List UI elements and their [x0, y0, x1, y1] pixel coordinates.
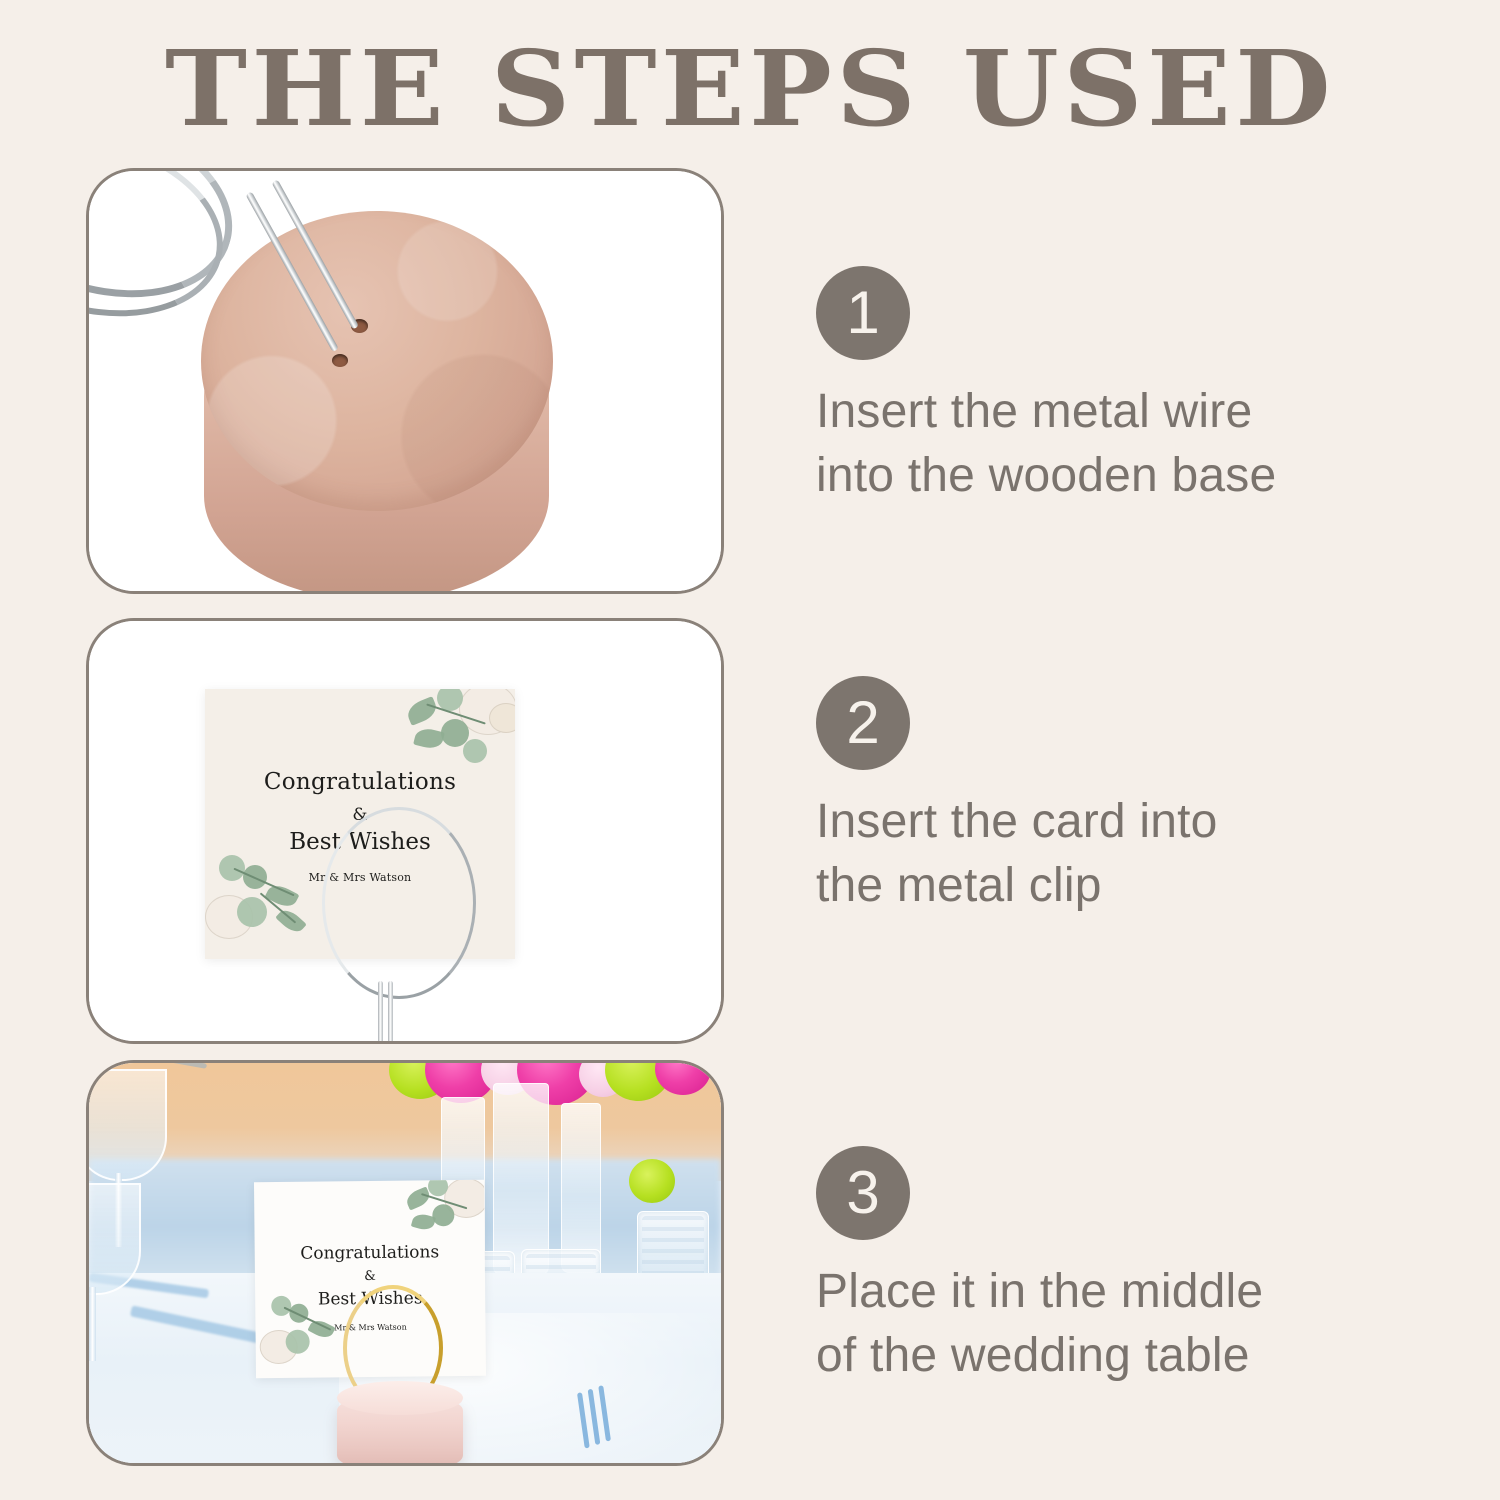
step-item-2: 2 Insert the card into the metal clip [816, 676, 1396, 918]
step-number-badge-2: 2 [816, 676, 910, 770]
green-flower [629, 1159, 675, 1203]
metal-clip-stem [378, 981, 383, 1041]
step-3-photo-panel: Congratulations & Best Wishes Mr & Mrs W… [86, 1060, 724, 1466]
card-line-congratulations: Congratulations [205, 769, 515, 795]
step-number-badge-3: 3 [816, 1146, 910, 1240]
eucalyptus-leaf [463, 739, 487, 763]
metal-clip-stem [388, 981, 393, 1041]
eucalyptus-leaf [404, 696, 439, 726]
drill-hole-icon [332, 354, 348, 367]
step-item-3: 3 Place it in the middle of the wedding … [816, 1146, 1396, 1388]
step-3-line-1: Place it in the middle [816, 1260, 1396, 1324]
step-1-line-1: Insert the metal wire [816, 380, 1396, 444]
card-line-ampersand: & [255, 1268, 485, 1285]
step-2-photo-panel: Congratulations & Best Wishes Mr & Mrs W… [86, 618, 724, 1044]
eucalyptus-leaf [413, 726, 445, 751]
step-3-line-2: of the wedding table [816, 1324, 1396, 1388]
card-line-congratulations: Congratulations [255, 1242, 485, 1264]
step-1-line-2: into the wooden base [816, 444, 1396, 508]
wooden-base-top [201, 211, 553, 511]
step-number-badge-1: 1 [816, 266, 910, 360]
infographic-root: THE STEPS USED [0, 0, 1500, 1500]
wine-glass-stem [89, 1287, 96, 1361]
card-in-clip-photo: Congratulations & Best Wishes Mr & Mrs W… [89, 621, 721, 1041]
step-2-line-1: Insert the card into [816, 790, 1396, 854]
step-description-2: Insert the card into the metal clip [816, 790, 1396, 918]
wooden-base-illustration [89, 171, 721, 591]
wedding-table-photo: Congratulations & Best Wishes Mr & Mrs W… [89, 1063, 721, 1463]
flower-petal [489, 703, 515, 733]
page-title: THE STEPS USED [0, 34, 1500, 143]
glass-vase [561, 1103, 601, 1273]
step-description-1: Insert the metal wire into the wooden ba… [816, 380, 1396, 508]
eucalyptus-leaf [237, 897, 267, 927]
step-item-1: 1 Insert the metal wire into the wooden … [816, 266, 1396, 508]
wooden-base [337, 1393, 463, 1463]
wooden-base-photo [89, 171, 721, 591]
step-2-line-2: the metal clip [816, 854, 1396, 918]
step-description-3: Place it in the middle of the wedding ta… [816, 1260, 1396, 1388]
metal-clip-ring [322, 807, 476, 999]
glass-vase [493, 1083, 549, 1275]
eucalyptus-leaf [432, 1204, 454, 1226]
eucalyptus-decor-bottom-left [205, 851, 333, 959]
wine-glass-bowl [89, 1069, 167, 1181]
step-1-photo-panel [86, 168, 724, 594]
eucalyptus-leaf [286, 1330, 310, 1354]
